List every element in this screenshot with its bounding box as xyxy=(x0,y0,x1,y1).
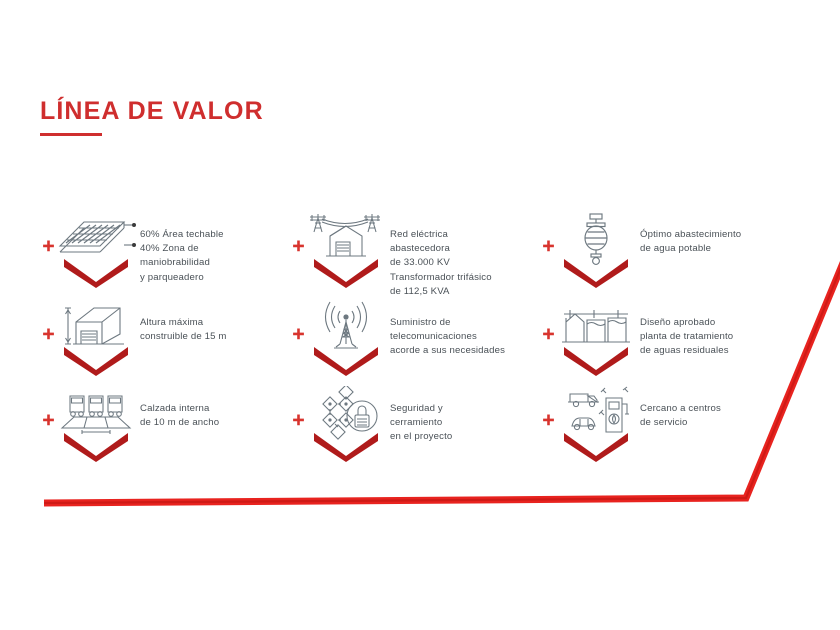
chevron-down-icon xyxy=(310,428,382,462)
chevron-down-icon xyxy=(310,254,382,288)
title-block: LÍNEA DE VALOR xyxy=(40,98,264,136)
value-item: 60% Área techable 40% Zona de maniobrabi… xyxy=(40,212,290,300)
label-line: de 10 m de ancho xyxy=(140,416,268,430)
label-line: Calzada interna xyxy=(140,402,268,416)
value-item: Seguridad y cerramiento en el proyecto xyxy=(290,386,540,472)
icon-wrap xyxy=(40,212,140,294)
icon-wrap xyxy=(540,212,640,294)
label-line: maniobrabilidad xyxy=(140,256,268,270)
chevron-down-icon xyxy=(60,254,132,288)
title-underline xyxy=(40,133,102,136)
label-line: de 33.000 KV xyxy=(390,256,530,270)
value-item: Suministro de telecomunicaciones acorde … xyxy=(290,300,540,386)
value-items-grid: 60% Área techable 40% Zona de maniobrabi… xyxy=(40,212,810,472)
label-line: telecomunicaciones xyxy=(390,330,530,344)
label-line: y parqueadero xyxy=(140,271,268,285)
label-line: de servicio xyxy=(640,416,790,430)
chevron-down-icon xyxy=(560,342,632,376)
value-item-label: 60% Área techable 40% Zona de maniobrabi… xyxy=(140,212,268,285)
chevron-down-icon xyxy=(60,342,132,376)
label-line: planta de tratamiento xyxy=(640,330,790,344)
label-line: Diseño aprobado xyxy=(640,316,790,330)
label-line: Seguridad y xyxy=(390,402,530,416)
value-item-label: Red eléctrica abastecedora de 33.000 KV … xyxy=(390,212,530,299)
icon-wrap xyxy=(290,386,390,468)
icon-wrap xyxy=(290,212,390,294)
value-item: Calzada interna de 10 m de ancho xyxy=(40,386,290,472)
chevron-down-icon xyxy=(310,342,382,376)
label-line: Cercano a centros xyxy=(640,402,790,416)
value-item: Óptimo abastecimiento de agua potable xyxy=(540,212,810,300)
label-line: construible de 15 m xyxy=(140,330,268,344)
value-item: Altura máxima construible de 15 m xyxy=(40,300,290,386)
label-line: Altura máxima xyxy=(140,316,268,330)
slide-canvas: LÍNEA DE VALOR xyxy=(0,0,840,630)
value-item: Cercano a centros de servicio xyxy=(540,386,810,472)
label-line: Óptimo abastecimiento xyxy=(640,228,790,242)
label-line: cerramiento xyxy=(390,416,530,430)
value-item: Red eléctrica abastecedora de 33.000 KV … xyxy=(290,212,540,300)
icon-wrap xyxy=(40,386,140,468)
chevron-down-icon xyxy=(60,428,132,462)
label-line: de aguas residuales xyxy=(640,344,790,358)
chevron-down-icon xyxy=(560,254,632,288)
icon-wrap xyxy=(40,300,140,382)
label-line: 60% Área techable xyxy=(140,228,268,242)
label-line: Suministro de xyxy=(390,316,530,330)
value-item-label: Seguridad y cerramiento en el proyecto xyxy=(390,386,530,445)
label-line: Red eléctrica xyxy=(390,228,530,242)
chevron-down-icon xyxy=(560,428,632,462)
value-item-label: Altura máxima construible de 15 m xyxy=(140,300,268,344)
page-title: LÍNEA DE VALOR xyxy=(40,98,264,126)
value-item: Diseño aprobado planta de tratamiento de… xyxy=(540,300,810,386)
label-line: de 112,5 KVA xyxy=(390,285,530,299)
label-line: en el proyecto xyxy=(390,430,530,444)
label-line: Transformador trifásico xyxy=(390,271,530,285)
label-line: 40% Zona de xyxy=(140,242,268,256)
value-item-label: Cercano a centros de servicio xyxy=(640,386,790,430)
icon-wrap xyxy=(290,300,390,382)
value-item-label: Diseño aprobado planta de tratamiento de… xyxy=(640,300,790,359)
value-item-label: Óptimo abastecimiento de agua potable xyxy=(640,212,790,256)
label-line: abastecedora xyxy=(390,242,530,256)
label-line: de agua potable xyxy=(640,242,790,256)
label-line: acorde a sus necesidades xyxy=(390,344,530,358)
icon-wrap xyxy=(540,386,640,468)
icon-wrap xyxy=(540,300,640,382)
value-item-label: Calzada interna de 10 m de ancho xyxy=(140,386,268,430)
value-item-label: Suministro de telecomunicaciones acorde … xyxy=(390,300,530,359)
